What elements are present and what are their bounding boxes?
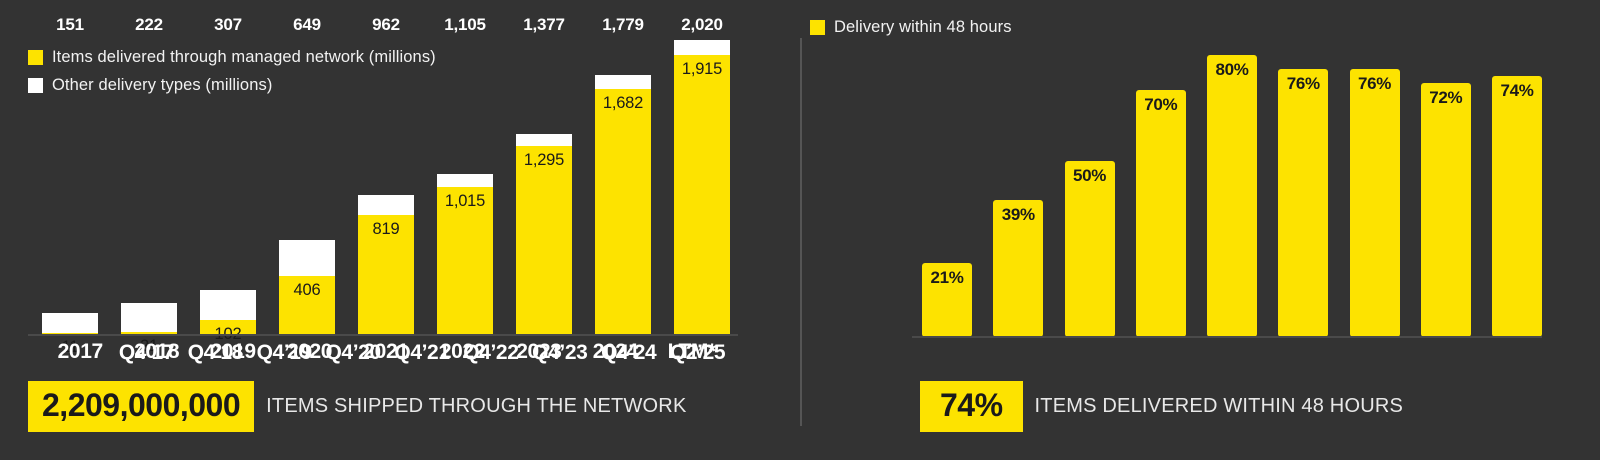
stacked-bar[interactable]: 1,7791,682 [595,75,651,335]
stacked-bar[interactable]: 1,1051,015 [437,174,493,335]
bar-segment-value-label: 406 [279,281,335,300]
bar-column-LTM[interactable]: 2,0201,915 [674,40,730,335]
bar-column-2018[interactable]: 22221 [121,40,177,335]
bar-segment-value-label: 1,682 [595,94,651,113]
bar-segment-managed-network[interactable]: 1,915 [674,55,730,335]
bar-segment-other-delivery-types[interactable] [674,40,730,55]
panel-items-shipped: Items delivered through managed network … [0,0,790,460]
x-tick-Q420: Q4’20 [319,341,388,365]
pct-bar-column-Q423[interactable]: 76% [1350,55,1400,337]
x-tick-Q422: Q4’22 [456,341,525,365]
pct-bar[interactable]: 21% [922,263,972,337]
bar-segment-managed-network[interactable]: 1,295 [516,146,572,335]
pct-bar-value-label: 72% [1421,88,1471,108]
x-tick-Q225: Q2’25 [663,341,732,365]
bar-total-label: 307 [214,15,242,35]
stacked-bar[interactable]: 649406 [279,240,335,335]
axis-baseline-left [28,334,738,336]
bar-segment-other-delivery-types[interactable] [200,290,256,320]
bar-column-2022[interactable]: 1,1051,015 [437,40,493,335]
bar-column-2023[interactable]: 1,3771,295 [516,40,572,335]
legend-swatch-managed [28,50,43,65]
callout-delivery-48-hours: 74% ITEMS DELIVERED WITHIN 48 HOURS [920,381,1403,432]
x-tick-Q423: Q4’23 [525,341,594,365]
bar-total-label: 2,020 [681,15,723,35]
bar-total-label: 222 [135,15,163,35]
bar-segment-managed-network[interactable]: 819 [358,215,414,335]
bar-segment-other-delivery-types[interactable] [358,195,414,216]
bar-total-label: 1,377 [523,15,565,35]
bar-segment-managed-network[interactable]: 1,015 [437,187,493,335]
bar-total-label: 151 [56,15,84,35]
bar-total-label: 649 [293,15,321,35]
bar-segment-other-delivery-types[interactable] [516,134,572,146]
pct-bar-value-label: 76% [1278,74,1328,94]
pct-bar-column-Q422[interactable]: 76% [1278,55,1328,337]
callout-text-delivery-48-hours: ITEMS DELIVERED WITHIN 48 HOURS [1035,395,1403,418]
x-tick-2017: 2017 [42,340,118,364]
bar-segment-managed-network[interactable]: 1,682 [595,89,651,335]
bar-total-label: 962 [372,15,400,35]
stacked-bar[interactable]: 22221 [121,303,177,335]
legend-right: Delivery within 48 hours [810,18,1012,46]
pct-bar-column-Q418[interactable]: 39% [993,55,1043,337]
pct-bar-column-Q420[interactable]: 70% [1136,55,1186,337]
pct-bar-column-Q225[interactable]: 74% [1492,55,1542,337]
bar-segment-value-label: 1,295 [516,151,572,170]
pct-bar[interactable]: 76% [1278,69,1328,337]
bar-column-2021[interactable]: 962819 [358,40,414,335]
legend-swatch-delivery-48h [810,20,825,35]
bar-column-2017[interactable]: 15111 [42,40,98,335]
pct-bar-value-label: 74% [1492,81,1542,101]
callout-text-items-shipped: ITEMS SHIPPED THROUGH THE NETWORK [266,395,686,418]
pct-bar-column-Q421[interactable]: 80% [1207,55,1257,337]
bar-column-2019[interactable]: 307102 [200,40,256,335]
x-tick-Q424: Q4’24 [594,341,663,365]
stacked-bar[interactable]: 2,0201,915 [674,40,730,335]
x-tick-Q421: Q4’21 [388,341,457,365]
bar-segment-value-label: 819 [358,220,414,239]
axis-baseline-right [912,336,1542,338]
pct-bar[interactable]: 50% [1065,161,1115,337]
legend-right-item-0[interactable]: Delivery within 48 hours [810,18,1012,37]
pct-bar[interactable]: 70% [1136,90,1186,337]
pct-bar-value-label: 50% [1065,166,1115,186]
bar-segment-other-delivery-types[interactable] [437,174,493,187]
legend-swatch-other [28,78,43,93]
pct-bar-column-Q419[interactable]: 50% [1065,55,1115,337]
bar-segment-managed-network[interactable]: 102 [200,320,256,335]
bar-segment-other-delivery-types[interactable] [42,313,98,333]
legend-right-label-0: Delivery within 48 hours [834,18,1012,37]
callout-value-chip-delivery-48-hours: 74% [920,381,1023,432]
bar-segment-value-label: 1,015 [437,192,493,211]
infographic-root: Items delivered through managed network … [0,0,1600,460]
bar-segment-other-delivery-types[interactable] [279,240,335,275]
bar-segment-other-delivery-types[interactable] [121,303,177,332]
stacked-bar[interactable]: 962819 [358,195,414,335]
stacked-bar[interactable]: 15111 [42,313,98,335]
pct-bar[interactable]: 39% [993,200,1043,337]
bar-column-2024[interactable]: 1,7791,682 [595,40,651,335]
pct-bar-value-label: 80% [1207,60,1257,80]
pct-bar-value-label: 70% [1136,95,1186,115]
bar-column-2020[interactable]: 649406 [279,40,335,335]
bar-segment-value-label: 1,915 [674,60,730,79]
chart-items-delivered-stacked-bar: 15111222213071026494069628191,1051,0151,… [42,40,730,335]
bar-total-label: 1,105 [444,15,486,35]
bar-segment-managed-network[interactable]: 406 [279,276,335,335]
pct-bar-value-label: 21% [922,268,972,288]
pct-bar[interactable]: 76% [1350,69,1400,337]
bar-total-label: 1,779 [602,15,644,35]
bar-segment-other-delivery-types[interactable] [595,75,651,89]
pct-bar-value-label: 76% [1350,74,1400,94]
x-tick-Q418: Q4’18 [181,341,250,365]
stacked-bar[interactable]: 307102 [200,290,256,335]
chart-delivery-within-48-hours-bar: 21%39%50%70%80%76%76%72%74% [922,55,1542,337]
x-axis-right: Q4’17Q4’18Q4’19Q4’20Q4’21Q4’22Q4’23Q4’24… [112,341,732,365]
pct-bar-column-Q417[interactable]: 21% [922,55,972,337]
callout-value-chip-items-shipped: 2,209,000,000 [28,381,254,432]
panel-divider [800,38,802,426]
pct-bar[interactable]: 74% [1492,76,1542,337]
pct-bar[interactable]: 80% [1207,55,1257,337]
pct-bar-value-label: 39% [993,205,1043,225]
x-tick-Q417: Q4’17 [112,341,181,365]
callout-items-shipped: 2,209,000,000 ITEMS SHIPPED THROUGH THE … [28,381,686,432]
x-tick-Q419: Q4’19 [250,341,319,365]
pct-bar-column-Q424[interactable]: 72% [1421,55,1471,337]
pct-bar[interactable]: 72% [1421,83,1471,337]
stacked-bar[interactable]: 1,3771,295 [516,134,572,335]
